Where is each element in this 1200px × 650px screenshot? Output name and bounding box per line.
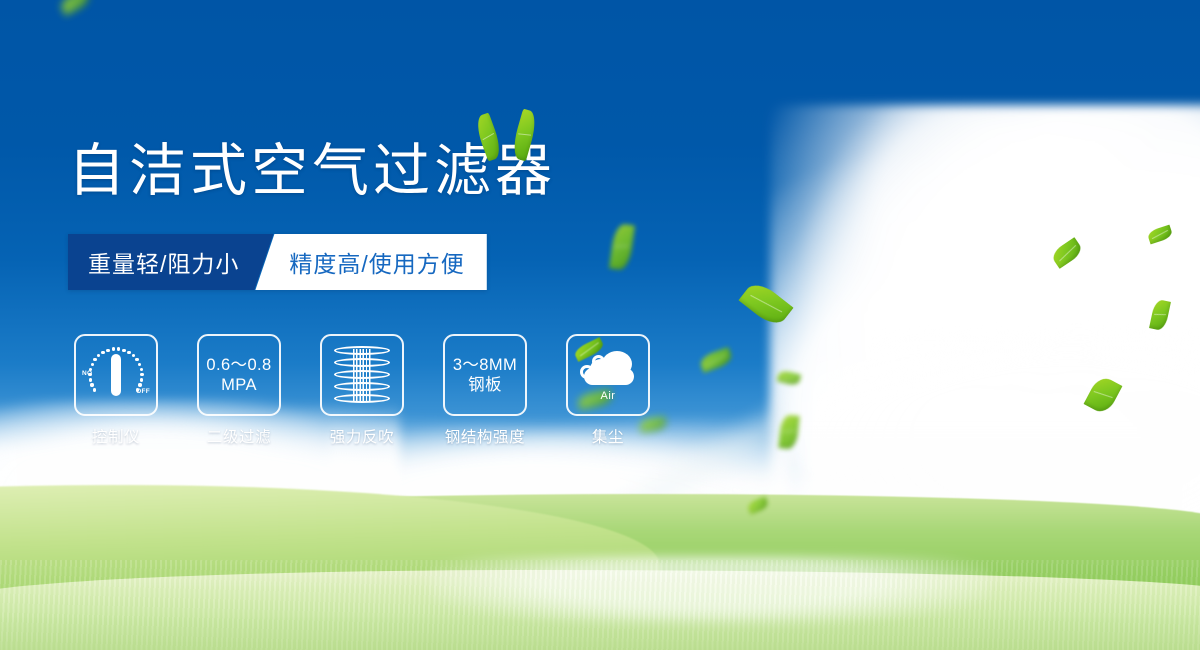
feature-item-blowback[interactable]: 强力反吹: [320, 334, 404, 447]
feature-box-pressure[interactable]: 0.6～0.8 MPA: [197, 334, 281, 416]
filter-disc: [334, 358, 390, 367]
leaf-icon: [1147, 225, 1174, 245]
feature-label-pressure: 二级过滤: [207, 425, 271, 447]
gauge-tick: [136, 388, 139, 391]
filter-cartridge-icon: [334, 346, 390, 404]
gauge-tick: [89, 378, 92, 381]
gauge-tick: [127, 351, 130, 354]
feature-item-pressure[interactable]: 0.6～0.8 MPA 二级过滤: [197, 334, 281, 447]
feature-box-steel[interactable]: 3～8MM 钢板: [443, 334, 527, 416]
cloud-ring: [580, 365, 594, 379]
pressure-text-icon: 0.6～0.8 MPA: [206, 355, 271, 395]
feature-item-controller[interactable]: NO OFF 控制仪: [74, 334, 158, 447]
feature-item-steel[interactable]: 3～8MM 钢板 钢结构强度: [443, 334, 527, 447]
headline-block: 自洁式空气过滤器: [68, 140, 556, 204]
grass-shadow: [0, 616, 1200, 650]
pressure-unit: MPA: [206, 375, 271, 395]
leaf-icon: [778, 414, 799, 450]
gauge-tick: [135, 358, 138, 361]
feature-label-blowback: 强力反吹: [330, 425, 394, 447]
feature-box-controller[interactable]: NO OFF: [74, 334, 158, 416]
leaf-icon: [58, 0, 92, 16]
leaf-icon: [698, 347, 734, 373]
hero-banner: 自洁式空气过滤器 重量轻/阻力小 精度高/使用方便 NO OFF 控制仪 0.6…: [0, 0, 1200, 650]
gauge-tick: [90, 383, 93, 386]
gauge-tick: [140, 378, 143, 381]
gauge-icon: NO OFF: [83, 344, 149, 406]
gauge-tick: [91, 363, 94, 366]
cloud-air-icon: [578, 349, 638, 389]
sprout-leaf-right-icon: [509, 109, 539, 162]
feature-box-blowback[interactable]: [320, 334, 404, 416]
cloud-ring: [592, 355, 605, 368]
steel-material: 钢板: [453, 375, 517, 395]
gauge-tick: [140, 373, 143, 376]
feature-box-dust[interactable]: Air: [566, 334, 650, 416]
leaf-icon: [777, 370, 801, 387]
feature-label-dust: 集尘: [592, 425, 624, 447]
leaf-icon: [1149, 299, 1171, 332]
gauge-tick: [132, 354, 135, 357]
feature-row: NO OFF 控制仪 0.6～0.8 MPA 二级过滤: [74, 334, 650, 447]
feature-label-steel: 钢结构强度: [445, 425, 526, 447]
gauge-tick: [138, 363, 141, 366]
gauge-needle: [111, 354, 121, 396]
gauge-tick: [93, 358, 96, 361]
sprout-leaves: [472, 104, 582, 164]
filter-disc: [334, 370, 390, 379]
leaf-icon: [738, 278, 793, 330]
filter-disc: [334, 382, 390, 391]
filter-disc: [334, 346, 390, 355]
subtitle-badge: 重量轻/阻力小 精度高/使用方便: [68, 234, 487, 290]
gauge-tick: [101, 351, 104, 354]
subtitle-badge-left: 重量轻/阻力小: [68, 234, 273, 290]
gauge-tick: [117, 347, 120, 350]
gauge-tick: [140, 368, 143, 371]
cloud-right-tower: [770, 105, 1200, 525]
feature-item-dust[interactable]: Air 集尘: [566, 334, 650, 447]
air-caption: Air: [601, 390, 616, 402]
steel-thickness: 3～8MM: [453, 356, 517, 374]
subtitle-badge-right: 精度高/使用方便: [255, 234, 486, 290]
gauge-tick: [93, 388, 96, 391]
feature-label-controller: 控制仪: [92, 425, 140, 447]
filter-disc: [334, 394, 390, 403]
leaf-icon: [609, 223, 635, 271]
pressure-value: 0.6～0.8: [206, 356, 271, 374]
leaf-icon: [1084, 374, 1123, 416]
gauge-tick: [122, 349, 125, 352]
gauge-tick: [112, 347, 115, 350]
gauge-tick: [106, 349, 109, 352]
sprout-leaf-left-icon: [473, 112, 505, 161]
leaf-icon: [1050, 237, 1085, 269]
steel-text-icon: 3～8MM 钢板: [453, 355, 517, 395]
gauge-tick: [138, 383, 141, 386]
gauge-tick: [97, 354, 100, 357]
